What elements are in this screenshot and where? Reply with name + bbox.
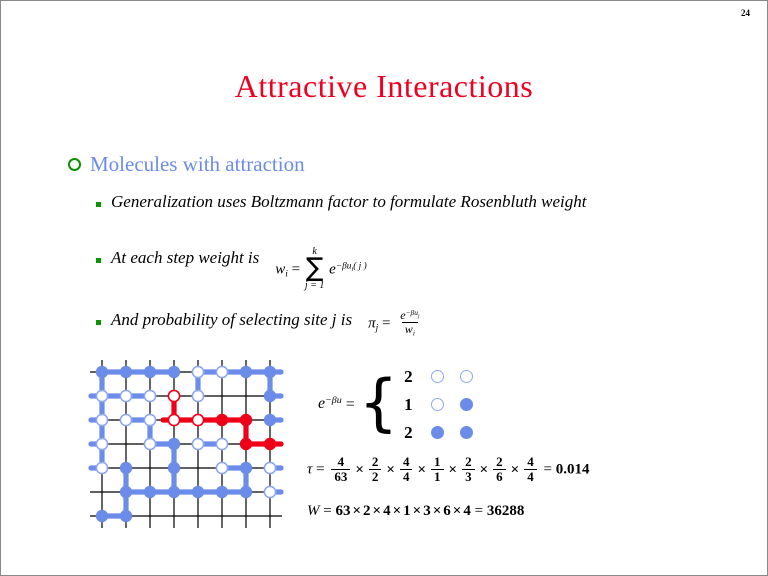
bullet-square-icon: [96, 320, 101, 325]
times-operator: ×: [371, 503, 384, 519]
site-open-circle-icon: [431, 398, 444, 411]
summation-operator: k ∑ j = 1: [305, 247, 325, 291]
w-factor: 4: [383, 503, 391, 519]
lattice-node-empty-blue: [96, 462, 107, 473]
formula-weight-exp: −βu: [336, 262, 352, 272]
formula-prob-eq: =: [382, 315, 390, 331]
lattice-node-occupied-blue: [168, 366, 180, 378]
fraction-numerator: 4: [335, 455, 348, 469]
lattice-node-occupied-red: [240, 414, 252, 426]
lattice-node-empty-red: [168, 390, 179, 401]
lattice-node-empty-red: [168, 414, 179, 425]
lattice-node-empty-blue: [216, 366, 227, 377]
bullet-level2-label: Generalization uses Boltzmann factor to …: [111, 192, 587, 212]
lattice-node-occupied-blue: [264, 390, 276, 402]
site-filled-circle-icon: [460, 398, 473, 411]
lattice-node-empty-blue: [216, 438, 227, 449]
lattice-node-occupied-blue: [96, 510, 108, 522]
formula-weight-eq: =: [292, 261, 300, 277]
w-factor: 4: [463, 503, 471, 519]
times-operator: ×: [391, 503, 404, 519]
boltzmann-eq: =: [346, 396, 355, 414]
page-number: 24: [741, 8, 750, 18]
bullet-level1-label: Molecules with attraction: [90, 152, 305, 176]
w-eq: =: [323, 503, 331, 519]
sum-lower-limit: j = 1: [305, 281, 325, 291]
lattice-node-occupied-blue: [120, 510, 132, 522]
case-value: 1: [404, 395, 415, 415]
lattice-node-empty-blue: [216, 462, 227, 473]
site-filled-circle-icon: [460, 426, 473, 439]
bullet-level1: Molecules with attraction: [68, 152, 305, 176]
left-brace-icon: {: [359, 381, 398, 426]
boltzmann-lhs: e−βu: [318, 395, 342, 413]
tau-fraction: 26: [493, 455, 506, 483]
tau-fraction: 44: [400, 455, 413, 483]
lattice-node-occupied-blue: [216, 486, 228, 498]
times-operator: ×: [384, 462, 397, 478]
w-factor: 63: [335, 503, 350, 519]
w-factor: 2: [363, 503, 371, 519]
w-factor: 6: [443, 503, 451, 519]
lattice-node-empty-blue: [144, 414, 155, 425]
bullet-level2-weight: At each step weight is wi = k ∑ j = 1 e−…: [96, 248, 367, 292]
lattice-node-occupied-blue: [144, 366, 156, 378]
times-operator: ×: [431, 503, 444, 519]
lattice-node-occupied-blue: [264, 366, 276, 378]
formula-prob-lhs-sub: j: [376, 323, 379, 333]
w-symbol: W: [307, 503, 320, 519]
lattice-node-empty-blue: [120, 390, 131, 401]
lattice-node-occupied-blue: [168, 486, 180, 498]
fraction-numerator: e−βuj: [397, 309, 422, 322]
formula-tau: τ = 463×22×44×11×23×26×44 = 0.014: [307, 456, 589, 484]
num-exp-sub: j: [418, 313, 420, 319]
boltzmann-cases-list: 2 1 2: [404, 368, 473, 441]
tau-fraction: 44: [524, 455, 537, 483]
tau-fraction: 22: [369, 455, 382, 483]
lattice-node-empty-blue: [96, 390, 107, 401]
site-filled-circle-icon: [431, 426, 444, 439]
site-open-circle-icon: [460, 370, 473, 383]
formula-weight-base: e: [329, 261, 336, 277]
fraction-numerator: 2: [369, 455, 382, 469]
case-value: 2: [404, 367, 415, 387]
tau-result: 0.014: [556, 462, 590, 478]
lattice-node-occupied-red: [264, 438, 276, 450]
bullet-level2-label: And probability of selecting site j is: [111, 310, 352, 330]
formula-weight-lhs: w: [275, 261, 285, 277]
case-value: 2: [404, 423, 415, 443]
lattice-node-empty-blue: [192, 438, 203, 449]
lattice-node-occupied-blue: [240, 366, 252, 378]
lattice-node-occupied-blue: [192, 486, 204, 498]
tau-fraction: 11: [431, 455, 444, 483]
boltzmann-cases-block: e−βu = { 2 1 2: [318, 368, 473, 441]
lattice-node-occupied-red: [240, 438, 252, 450]
times-operator: ×: [415, 462, 428, 478]
lattice-node-empty-blue: [96, 414, 107, 425]
fraction-denominator: 6: [493, 469, 506, 484]
tau-result-eq: =: [543, 462, 551, 478]
slide-canvas: 24 Attractive Interactions Molecules wit…: [0, 0, 768, 576]
fraction-numerator: 2: [493, 455, 506, 469]
case-row: 2: [404, 368, 473, 385]
boltzmann-exp: −βu: [325, 395, 342, 406]
times-operator: ×: [411, 503, 424, 519]
bullet-level2-label: At each step weight is: [111, 248, 259, 268]
times-operator: ×: [451, 503, 464, 519]
fraction-denominator: 2: [369, 469, 382, 484]
lattice-node-occupied-blue: [120, 462, 132, 474]
case-row: 1: [404, 396, 473, 413]
formula-rosenbluth-weight: W = 63×2×4×1×3×6×4 = 36288: [307, 503, 524, 520]
lattice-node-empty-blue: [264, 486, 275, 497]
lattice-node-empty-blue: [192, 390, 203, 401]
fraction-denominator: 1: [431, 469, 444, 484]
times-operator: ×: [509, 462, 522, 478]
formula-probability: πj = e−βuj wi: [362, 310, 425, 338]
fraction-denominator: 4: [400, 469, 413, 484]
sum-sigma-icon: ∑: [306, 257, 324, 281]
lattice-diagram: [88, 358, 294, 545]
lattice-node-occupied-blue: [264, 414, 276, 426]
w-factor: 1: [403, 503, 411, 519]
lattice-node-occupied-blue: [240, 486, 252, 498]
fraction-denominator: 3: [462, 469, 475, 484]
case-row: 2: [404, 424, 473, 441]
den-var: w: [405, 322, 413, 336]
tau-symbol: τ: [307, 462, 312, 478]
tau-fraction: 23: [462, 455, 475, 483]
times-operator: ×: [478, 462, 491, 478]
lattice-node-empty-blue: [144, 390, 155, 401]
lattice-node-occupied-blue: [168, 438, 180, 450]
times-operator: ×: [447, 462, 460, 478]
formula-weight: wi = k ∑ j = 1 e−βui( j ): [269, 248, 366, 292]
lattice-node-empty-blue: [96, 438, 107, 449]
bullet-level2-generalization: Generalization uses Boltzmann factor to …: [96, 192, 706, 212]
slide-title: Attractive Interactions: [0, 68, 768, 105]
fraction-numerator: 4: [524, 455, 537, 469]
lattice-node-occupied-blue: [168, 462, 180, 474]
bullet-circle-icon: [68, 158, 81, 171]
formula-weight-exp-arg: ( j ): [353, 262, 366, 272]
fraction-numerator: 1: [431, 455, 444, 469]
w-factor: 3: [423, 503, 431, 519]
num-exp: −βu: [406, 308, 418, 317]
lattice-node-occupied-blue: [120, 366, 132, 378]
lattice-node-empty-blue: [144, 438, 155, 449]
lattice-svg: [88, 358, 294, 540]
w-result-eq: =: [475, 503, 483, 519]
formula-weight-lhs-sub: i: [285, 269, 288, 279]
fraction-numerator: 4: [400, 455, 413, 469]
tau-eq: =: [316, 462, 324, 478]
fraction-denominator: 63: [331, 469, 350, 484]
bullet-square-icon: [96, 258, 101, 263]
lattice-node-occupied-blue: [240, 462, 252, 474]
bullet-level2-probability: And probability of selecting site j is π…: [96, 310, 425, 338]
lattice-node-empty-blue: [120, 414, 131, 425]
den-sub: i: [413, 328, 415, 337]
lattice-node-occupied-blue: [96, 366, 108, 378]
lattice-node-occupied-red: [216, 414, 228, 426]
formula-prob-fraction: e−βuj wi: [397, 309, 422, 337]
lattice-node-empty-blue: [264, 462, 275, 473]
lattice-node-occupied-blue: [144, 486, 156, 498]
fraction-denominator: 4: [524, 469, 537, 484]
fraction-denominator: wi: [402, 322, 418, 337]
w-factor-list: 63×2×4×1×3×6×4: [335, 503, 470, 519]
w-result: 36288: [487, 503, 525, 519]
site-open-circle-icon: [431, 370, 444, 383]
tau-fraction: 463: [331, 455, 350, 483]
lattice-node-empty-red: [192, 414, 203, 425]
times-operator: ×: [353, 462, 366, 478]
lattice-node-empty-blue: [192, 366, 203, 377]
lattice-node-occupied-blue: [120, 486, 132, 498]
times-operator: ×: [350, 503, 363, 519]
bullet-square-icon: [96, 202, 101, 207]
tau-factor-list: 463×22×44×11×23×26×44: [328, 462, 539, 478]
fraction-numerator: 2: [462, 455, 475, 469]
formula-prob-lhs: π: [368, 315, 376, 331]
